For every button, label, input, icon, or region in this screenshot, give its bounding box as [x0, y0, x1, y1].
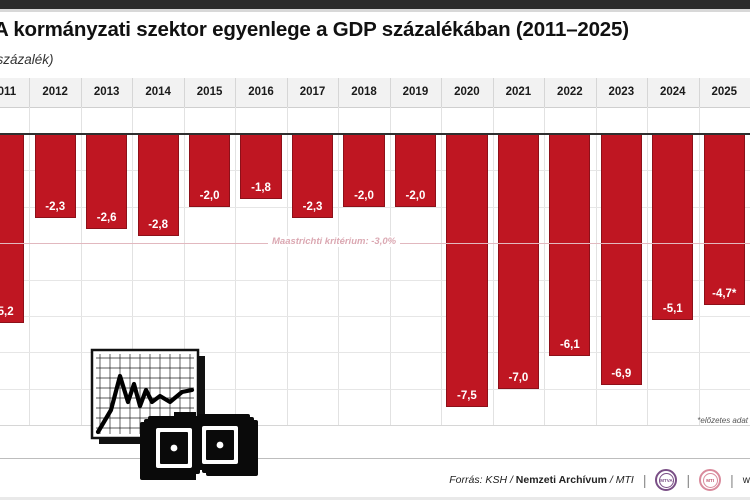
- plot-vertical-gridline: [596, 107, 597, 426]
- top-dark-bar: [0, 0, 750, 9]
- year-header-2013: 2013: [81, 78, 132, 107]
- plot-vertical-gridline: [544, 107, 545, 426]
- header-divider: [29, 78, 30, 107]
- year-header-2024: 2024: [647, 78, 698, 107]
- bar-2020[interactable]: [446, 134, 487, 407]
- footer-url[interactable]: w: [743, 475, 750, 486]
- bar-value-2012: -2,3: [35, 201, 76, 213]
- bar-value-2021: -7,0: [498, 372, 539, 384]
- mti-logo[interactable]: MTI: [699, 469, 721, 491]
- chart-subtitle: (százalék): [0, 52, 54, 67]
- bar-2011[interactable]: [0, 134, 24, 323]
- plot-vertical-gridline: [390, 107, 391, 426]
- bar-value-2016: -1,8: [240, 182, 281, 194]
- bar-value-2019: -2,0: [395, 190, 436, 202]
- mti-logo-text: MTI: [703, 473, 718, 488]
- year-header-2015: 2015: [184, 78, 235, 107]
- plot-vertical-gridline: [287, 107, 288, 426]
- bar-value-2015: -2,0: [189, 190, 230, 202]
- year-header-2022: 2022: [544, 78, 595, 107]
- plot-vertical-gridline: [338, 107, 339, 426]
- year-header-2017: 2017: [287, 78, 338, 107]
- bar-value-2011: -5,2: [0, 306, 24, 318]
- banknote-stacks: [140, 412, 258, 480]
- header-divider: [338, 78, 339, 107]
- footer-separator-3: |: [730, 472, 734, 488]
- bar-value-2014: -2,8: [138, 219, 179, 231]
- header-divider: [441, 78, 442, 107]
- year-header-2021: 2021: [493, 78, 544, 107]
- header-divider: [81, 78, 82, 107]
- chart-and-money-illustration: [78, 340, 258, 492]
- page-title: A kormányzati szektor egyenlege a GDP sz…: [0, 18, 750, 46]
- year-header-2025: 2025: [699, 78, 750, 107]
- zero-axis-line: [0, 133, 750, 135]
- plot-vertical-gridline: [493, 107, 494, 426]
- bar-2023[interactable]: [601, 134, 642, 385]
- top-gray-bar: [0, 9, 750, 12]
- plot-vertical-gridline: [647, 107, 648, 426]
- nemzeti-archivum-logo-text: MTVA: [659, 473, 674, 488]
- header-divider: [596, 78, 597, 107]
- source-prefix: Forrás: KSH /: [449, 474, 516, 486]
- header-divider: [699, 78, 700, 107]
- year-header-band: 2011201220132014201520162017201820192020…: [0, 78, 750, 108]
- year-header-2012: 2012: [29, 78, 80, 107]
- plot-vertical-gridline: [699, 107, 700, 426]
- header-divider: [184, 78, 185, 107]
- year-header-2016: 2016: [235, 78, 286, 107]
- source-bold: Nemzeti Archívum: [516, 474, 607, 486]
- bar-2024[interactable]: [652, 134, 693, 320]
- year-header-2014: 2014: [132, 78, 183, 107]
- bar-value-2023: -6,9: [601, 368, 642, 380]
- year-header-2023: 2023: [596, 78, 647, 107]
- footer-separator-1: |: [643, 472, 647, 488]
- header-divider: [390, 78, 391, 107]
- source-suffix: / MTI: [607, 474, 634, 486]
- source-credit: Forrás: KSH / Nemzeti Archívum / MTI: [449, 474, 634, 486]
- bar-2021[interactable]: [498, 134, 539, 389]
- bar-value-2013: -2,6: [86, 212, 127, 224]
- nemzeti-archivum-logo[interactable]: MTVA: [655, 469, 677, 491]
- bar-value-2020: -7,5: [446, 390, 487, 402]
- bar-value-2024: -5,1: [652, 303, 693, 315]
- maastricht-reference-label: Maastrichti kritérium: -3,0%: [268, 236, 400, 247]
- header-divider: [235, 78, 236, 107]
- year-header-2011: 2011: [0, 78, 29, 107]
- header-divider: [544, 78, 545, 107]
- header-divider: [287, 78, 288, 107]
- year-header-2019: 2019: [390, 78, 441, 107]
- header-divider: [647, 78, 648, 107]
- year-header-2020: 2020: [441, 78, 492, 107]
- year-header-2018: 2018: [338, 78, 389, 107]
- footnote: *előzetes adat: [697, 416, 748, 425]
- bar-2025[interactable]: [704, 134, 745, 305]
- bar-value-2025: -4,7*: [704, 288, 745, 300]
- header-divider: [493, 78, 494, 107]
- plot-vertical-gridline: [29, 107, 30, 426]
- plot-vertical-gridline: [441, 107, 442, 426]
- bar-value-2022: -6,1: [549, 339, 590, 351]
- bar-value-2017: -2,3: [292, 201, 333, 213]
- bar-value-2018: -2,0: [343, 190, 384, 202]
- footer-separator-2: |: [686, 472, 690, 488]
- bar-2022[interactable]: [549, 134, 590, 356]
- header-divider: [132, 78, 133, 107]
